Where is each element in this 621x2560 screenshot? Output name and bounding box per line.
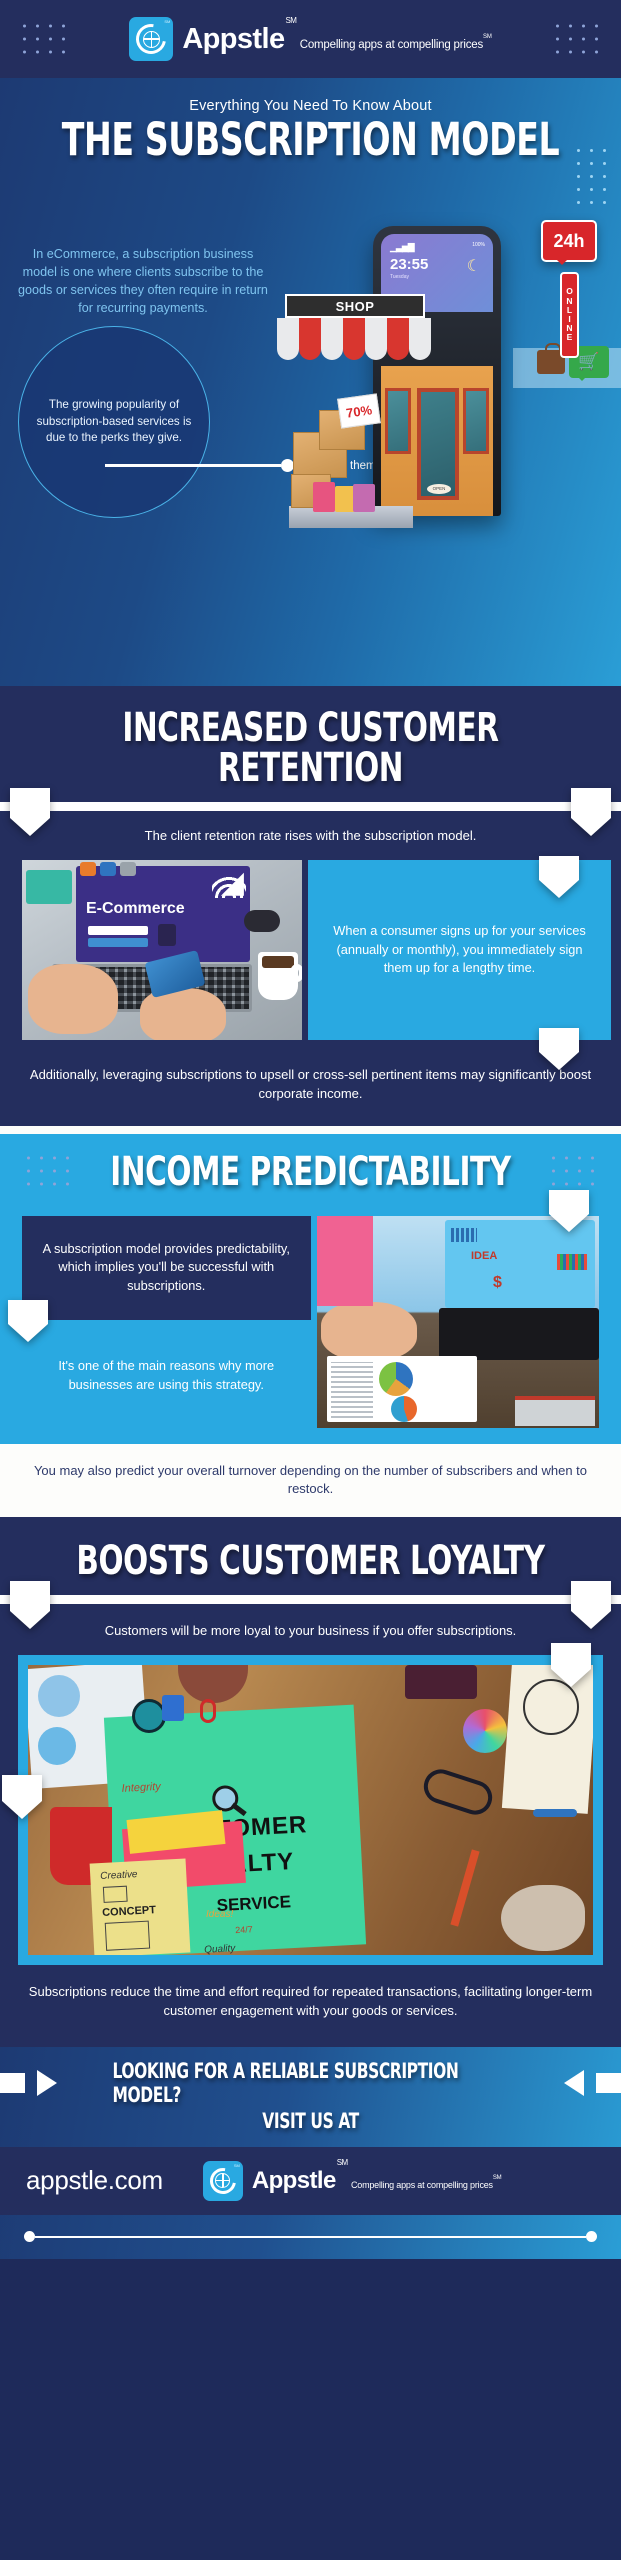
endline-bar <box>35 2236 586 2239</box>
logo-sm-mark: SM <box>164 19 170 24</box>
loyalty-word-creative: Creative <box>100 1869 138 1882</box>
hero-kicker: Everything You Need To Know About <box>0 78 621 114</box>
appstle-globe-recycle-icon: SM <box>203 2161 243 2201</box>
arrow-tab <box>551 1643 591 1687</box>
phone-time: 23:55 <box>390 256 428 273</box>
business-analytics-photo: IDEA $ <box>317 1216 600 1428</box>
divider-rule <box>0 802 621 811</box>
endline-knob-left <box>24 2231 35 2242</box>
arrow-tab <box>571 788 611 836</box>
brand-name: AppstleSM <box>252 2169 347 2193</box>
hero-illustration: 🛒 24h ONLINE ▁▃▅▇ 100% 23:55 Tuesday ☾ <box>291 220 621 550</box>
predictability-cyan-box: It's one of the main reasons why more bu… <box>22 1324 311 1428</box>
section-retention: INCREASED CUSTOMER RETENTION The client … <box>0 686 621 1126</box>
online-vertical-sign: ONLINE <box>560 272 579 358</box>
sticky-note-concept: Creative CONCEPT <box>90 1859 191 1955</box>
dollar-icon: $ <box>493 1274 502 1292</box>
section-predictability-footer: You may also predict your overall turnov… <box>24 1462 597 1500</box>
wireframe-sketch <box>103 1886 128 1903</box>
predictability-navy-box: A subscription model provides predictabi… <box>22 1216 311 1320</box>
wireframe-sketch <box>105 1921 150 1951</box>
arrow-right-icon <box>37 2070 57 2096</box>
pencil <box>450 1849 479 1926</box>
award-badge-icon <box>132 1699 166 1733</box>
parcel-boxes: 70% <box>291 388 401 518</box>
ecommerce-screen-label: E-Commerce <box>86 900 185 918</box>
predictability-title-band: INCOME PREDICTABILITY <box>0 1134 621 1208</box>
arrow-tab <box>539 856 579 898</box>
arrow-tab <box>571 1581 611 1629</box>
hero-decorative-dots <box>572 144 611 209</box>
brand-tagline: Compelling apps at compelling pricesSM <box>351 2180 502 2190</box>
decorative-dots-left <box>18 20 70 59</box>
cta-right-block <box>596 2073 621 2093</box>
cta-subline: VISIT US AT <box>56 2109 565 2133</box>
tagline-sm: SM <box>483 34 492 40</box>
divider-rule <box>0 1126 621 1134</box>
report-paper <box>327 1356 477 1422</box>
logo-sm-mark: SM <box>234 2163 240 2168</box>
decorative-dots-right <box>551 20 603 59</box>
app-icon <box>100 862 116 876</box>
laptop-screen: IDEA $ <box>445 1220 595 1308</box>
arrow-tab <box>2 1775 42 1819</box>
weather-moon-icon: ☾ <box>467 256 481 276</box>
connector-line <box>105 464 281 467</box>
hero-title: THE SUBSCRIPTION MODEL <box>56 118 565 161</box>
section-loyalty: BOOSTS CUSTOMER LOYALTY Customers will b… <box>0 1517 621 2047</box>
hero-section: Everything You Need To Know About THE SU… <box>0 78 621 686</box>
glass-object <box>178 1665 248 1703</box>
brand-header: SM AppstleSM Compelling apps at compelli… <box>0 0 621 78</box>
eyeglasses <box>419 1765 496 1819</box>
badge-24h: 24h <box>541 220 597 262</box>
infographic-page: SM AppstleSM Compelling apps at compelli… <box>0 0 621 2560</box>
brand-sm: SM <box>285 16 296 25</box>
app-icon <box>120 862 136 876</box>
pie-chart <box>379 1362 413 1396</box>
sunglasses <box>244 910 280 932</box>
shop-signboard: SHOP <box>285 294 425 318</box>
brand-logo: SM AppstleSM Compelling apps at compelli… <box>129 17 491 61</box>
customer-loyalty-photo: CUSTOMER LOYALTY SERVICE Integrity 24/7 … <box>28 1665 593 1955</box>
login-button[interactable] <box>88 938 148 947</box>
cup-handle <box>290 964 302 982</box>
shopping-bag <box>335 486 355 512</box>
section-retention-lead: The client retention rate rises with the… <box>0 811 621 860</box>
cta-section: LOOKING FOR A RELIABLE SUBSCRIPTION MODE… <box>0 2047 621 2259</box>
shopping-bag <box>313 482 335 512</box>
person-sleeve <box>317 1216 373 1306</box>
footer-bar: appstle.com SM AppstleSM Compelling apps… <box>0 2147 621 2215</box>
footer-brand-logo: SM AppstleSM Compelling apps at compelli… <box>203 2161 502 2201</box>
section-loyalty-title: BOOSTS CUSTOMER LOYALTY <box>56 1541 565 1581</box>
striped-awning <box>277 318 433 360</box>
bar-chart-icon <box>557 1254 587 1270</box>
loyalty-word-integrity: Integrity <box>121 1781 161 1795</box>
loyalty-word-quality: Quality <box>204 1943 236 1955</box>
footer-endline <box>0 2215 621 2259</box>
hero-circle-callout: The growing popularity of subscription-b… <box>18 326 210 518</box>
appstle-globe-recycle-icon: SM <box>129 17 173 61</box>
open-sign: OPEN <box>427 484 451 494</box>
arrow-tab <box>549 1190 589 1232</box>
arrow-tab <box>10 1581 50 1629</box>
section-predictability: INCOME PREDICTABILITY A subscription mod… <box>0 1126 621 1518</box>
store-window-right <box>463 388 489 454</box>
blue-clip <box>533 1809 577 1817</box>
hand-typing <box>28 964 118 1034</box>
notebook <box>26 870 72 904</box>
loyalty-word-concept: CONCEPT <box>102 1904 156 1919</box>
hero-paragraph: In eCommerce, a subscription business mo… <box>18 246 268 318</box>
arrow-tab <box>8 1300 48 1342</box>
cta-headline-row: LOOKING FOR A RELIABLE SUBSCRIPTION MODE… <box>0 2047 621 2107</box>
calculator <box>515 1396 595 1426</box>
predictability-footer-band: You may also predict your overall turnov… <box>0 1444 621 1518</box>
discount-tag: 70% <box>337 393 381 428</box>
section-retention-footer: Additionally, leveraging subscriptions t… <box>0 1040 621 1126</box>
divider-rule <box>0 1595 621 1604</box>
ecommerce-laptop-photo: E-Commerce ◢ <box>22 860 302 1040</box>
section-predictability-title: INCOME PREDICTABILITY <box>56 1152 565 1192</box>
cta-left-block <box>0 2073 25 2093</box>
section-loyalty-lead: Customers will be more loyal to your bus… <box>0 1604 621 1655</box>
loyalty-word-247: 24/7 <box>235 1924 253 1935</box>
paper-clip <box>162 1695 184 1721</box>
pie-chart <box>391 1396 417 1422</box>
idea-label: IDEA <box>471 1250 497 1262</box>
text-lines <box>331 1362 373 1418</box>
share-circle-icon <box>38 1727 76 1765</box>
wifi-arcs-icon <box>212 874 246 898</box>
app-icon <box>80 862 96 876</box>
rubber-band-ball <box>463 1709 507 1753</box>
lock-icon <box>158 924 176 946</box>
section-retention-title: INCREASED CUSTOMER RETENTION <box>56 708 565 788</box>
red-clip <box>200 1699 216 1723</box>
loyalty-word-ideas: Ideas! <box>206 1909 233 1920</box>
arrow-tab <box>539 1028 579 1070</box>
battery-label: 100% <box>472 242 485 248</box>
hand-on-laptop <box>321 1302 417 1360</box>
arrow-left-icon <box>564 2070 584 2096</box>
bar-chart-icon <box>451 1228 477 1242</box>
arrow-tab <box>10 788 50 836</box>
brand-name: AppstleSM <box>182 25 295 54</box>
loyalty-photo-frame: CUSTOMER LOYALTY SERVICE Integrity 24/7 … <box>18 1655 603 1965</box>
signal-icon: ▁▃▅▇ <box>390 242 414 253</box>
crumpled-paper <box>501 1885 585 1951</box>
shopping-bag <box>353 484 375 512</box>
wallet <box>405 1665 477 1699</box>
section-loyalty-footer: Subscriptions reduce the time and effort… <box>0 1965 621 2047</box>
phone-day: Tuesday <box>390 274 409 280</box>
sketch-circle <box>523 1679 579 1735</box>
password-field <box>88 926 148 935</box>
shop-sign-label: SHOP <box>336 299 375 314</box>
footer-url[interactable]: appstle.com <box>26 2165 163 2196</box>
cta-headline: LOOKING FOR A RELIABLE SUBSCRIPTION MODE… <box>112 2059 509 2107</box>
hero-circle-text: The growing popularity of subscription-b… <box>35 397 193 447</box>
chart-circle-icon <box>38 1675 80 1717</box>
laptop-keyboard <box>439 1308 599 1360</box>
badge-24h-label: 24h <box>553 231 584 252</box>
brand-tagline: Compelling apps at compelling pricesSM <box>300 39 492 51</box>
endline-knob-right <box>586 2231 597 2242</box>
